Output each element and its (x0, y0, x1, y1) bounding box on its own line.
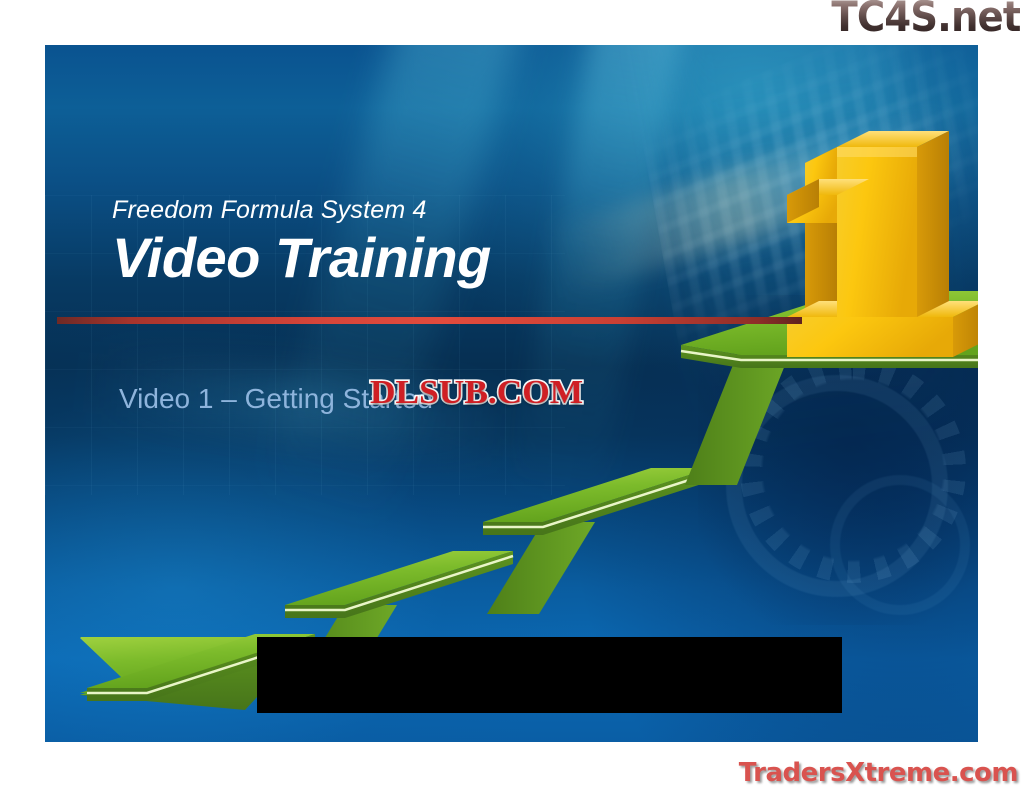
presentation-slide: Freedom Formula System 4 Video Training … (45, 45, 978, 742)
stair-step-3 (483, 468, 711, 535)
numeral-one-3d (787, 131, 978, 357)
stair-riser-2 (487, 522, 595, 614)
watermark-tradersxtreme: TradersXtreme.com (739, 758, 1018, 788)
black-redaction-bar (257, 637, 842, 713)
page-title: Video Training (112, 227, 491, 289)
red-divider-rule (57, 317, 802, 324)
watermark-tc4s: TC4S.net (831, 0, 1020, 38)
watermark-dlsub: DLSUB.COM (370, 374, 583, 412)
slide-eyebrow-text: Freedom Formula System 4 (112, 196, 427, 225)
stair-step-2 (285, 551, 513, 618)
